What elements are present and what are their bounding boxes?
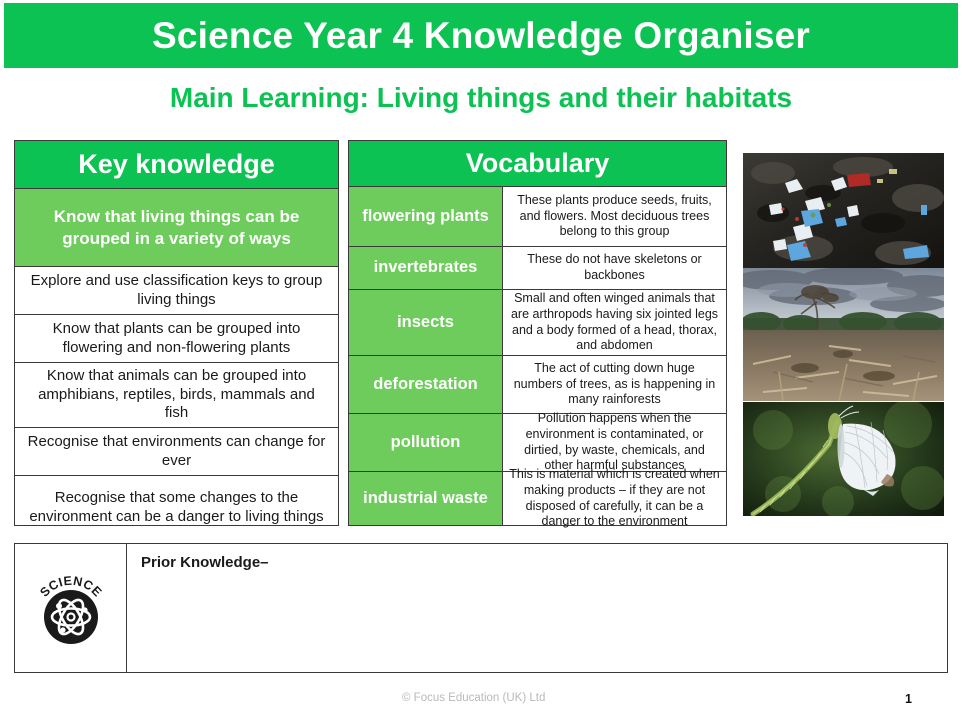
vocabulary-table: Vocabulary flowering plants These plants… <box>348 140 727 526</box>
vocabulary-row: industrial waste This is material which … <box>349 471 726 525</box>
vocabulary-row: insects Small and often winged animals t… <box>349 289 726 355</box>
page-title: Science Year 4 Knowledge Organiser <box>152 15 810 57</box>
key-knowledge-item: Know that animals can be grouped into am… <box>15 362 338 427</box>
prior-knowledge-box: SCIENCE Prior Knowledge– <box>14 543 948 673</box>
vocabulary-header: Vocabulary <box>349 141 726 186</box>
vocabulary-definition: This is material which is created when m… <box>502 472 726 525</box>
vocabulary-definition: These plants produce seeds, fruits, and … <box>502 187 726 246</box>
footer-copyright: © Focus Education (UK) Ltd <box>402 692 545 704</box>
vocabulary-definition: Pollution happens when the environment i… <box>502 414 726 471</box>
vocabulary-definition: The act of cutting down huge numbers of … <box>502 356 726 413</box>
vocabulary-term: invertebrates <box>349 247 502 289</box>
science-atom-badge-icon: SCIENCE <box>28 565 114 651</box>
footer-page-number: 1 <box>905 692 912 706</box>
vocabulary-row: flowering plants These plants produce se… <box>349 186 726 246</box>
key-knowledge-item: Know that plants can be grouped into flo… <box>15 314 338 362</box>
vocabulary-definition: Small and often winged animals that are … <box>502 290 726 355</box>
vocabulary-definition: These do not have skeletons or backbones <box>502 247 726 289</box>
key-knowledge-item: Explore and use classification keys to g… <box>15 266 338 314</box>
butterfly-photo <box>743 402 944 516</box>
key-knowledge-item-highlighted: Know that living things can be grouped i… <box>15 188 338 266</box>
key-knowledge-header: Key knowledge <box>15 141 338 188</box>
vocabulary-row: pollution Pollution happens when the env… <box>349 413 726 471</box>
prior-knowledge-label: Prior Knowledge– <box>141 554 933 571</box>
landfill-pollution-photo <box>743 153 944 268</box>
title-banner: Science Year 4 Knowledge Organiser <box>4 3 958 68</box>
main-learning-subtitle: Main Learning: Living things and their h… <box>0 82 962 114</box>
key-knowledge-item: Recognise that some changes to the envir… <box>15 475 338 540</box>
vocabulary-term: deforestation <box>349 356 502 413</box>
key-knowledge-item: Recognise that environments can change f… <box>15 427 338 475</box>
footer: © Focus Education (UK) Ltd 1 <box>0 692 962 714</box>
vocabulary-row: invertebrates These do not have skeleton… <box>349 246 726 289</box>
prior-knowledge-content[interactable]: Prior Knowledge– <box>127 544 947 672</box>
vocabulary-term: flowering plants <box>349 187 502 246</box>
vocabulary-term: insects <box>349 290 502 355</box>
vocabulary-term: pollution <box>349 414 502 471</box>
key-knowledge-table: Key knowledge Know that living things ca… <box>14 140 339 526</box>
vocabulary-row: deforestation The act of cutting down hu… <box>349 355 726 413</box>
science-badge-cell: SCIENCE <box>15 544 127 672</box>
deforestation-photo <box>743 268 944 401</box>
vocabulary-term: industrial waste <box>349 472 502 525</box>
